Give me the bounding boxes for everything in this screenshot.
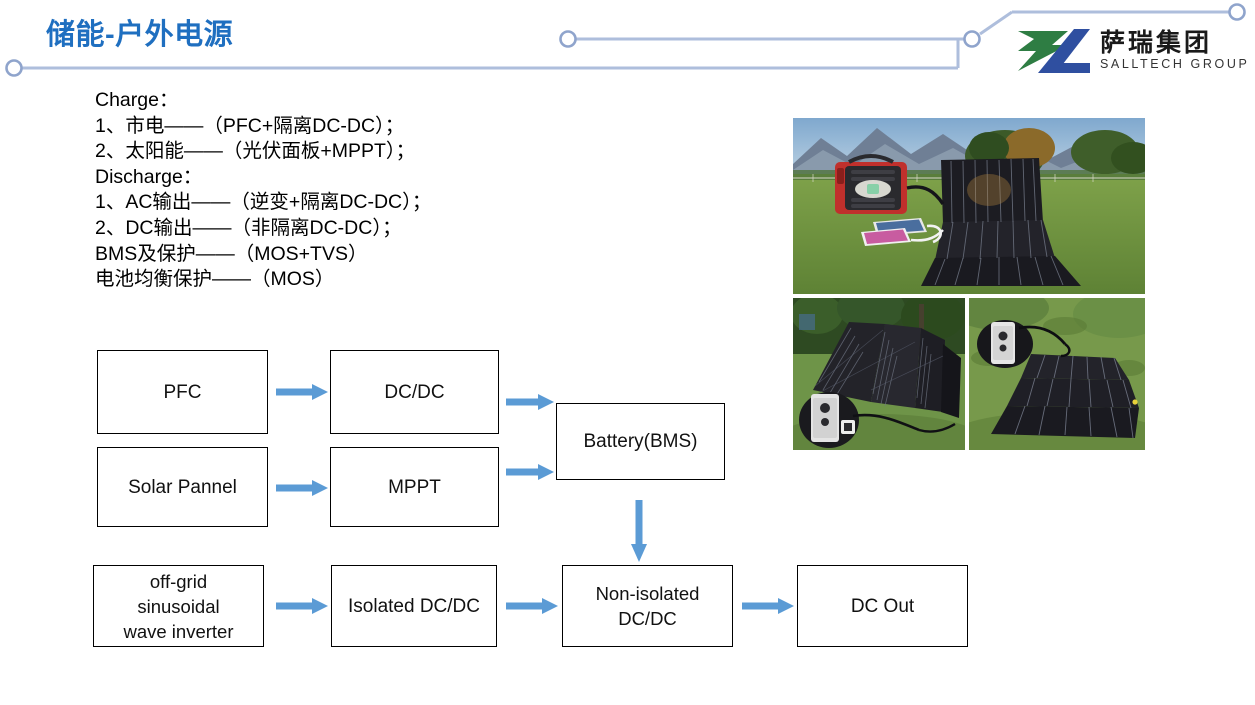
block-label: DC/DC bbox=[384, 381, 444, 404]
block-label: PFC bbox=[164, 381, 202, 404]
arrow-mppt-to-battery bbox=[506, 460, 554, 484]
arrow-pfc-to-dcdc bbox=[276, 380, 328, 404]
block-label: Battery(BMS) bbox=[583, 430, 697, 453]
arrow-dcdc-to-battery bbox=[506, 390, 554, 414]
block-mppt[interactable]: MPPT bbox=[330, 447, 499, 527]
block-battery-bms[interactable]: Battery(BMS) bbox=[556, 403, 725, 480]
block-label: off-gridsinusoidalwave inverter bbox=[123, 569, 233, 644]
block-label: Solar Pannel bbox=[128, 476, 237, 499]
arrow-isolated-to-non-isolated bbox=[506, 594, 558, 618]
block-label: MPPT bbox=[388, 476, 441, 499]
block-label: Non-isolatedDC/DC bbox=[596, 581, 700, 631]
arrow-non-isolated-to-dc-out bbox=[742, 594, 794, 618]
system-block-diagram: PFC DC/DC Battery(BMS) Solar Pannel MPPT… bbox=[0, 0, 1255, 705]
arrow-inverter-to-isolated-dcdc bbox=[276, 594, 328, 618]
block-label: Isolated DC/DC bbox=[348, 595, 480, 618]
block-solar-pannel[interactable]: Solar Pannel bbox=[97, 447, 268, 527]
block-pfc[interactable]: PFC bbox=[97, 350, 268, 434]
block-off-grid-inverter[interactable]: off-gridsinusoidalwave inverter bbox=[93, 565, 264, 647]
block-dc-out[interactable]: DC Out bbox=[797, 565, 968, 647]
slide-canvas: 储能-户外电源 萨瑞集团 SALLTECH GROUP Charge： 1、市电… bbox=[0, 0, 1255, 705]
block-dcdc[interactable]: DC/DC bbox=[330, 350, 499, 434]
arrow-solar-to-mppt bbox=[276, 476, 328, 500]
block-label: DC Out bbox=[851, 595, 914, 618]
block-non-isolated-dcdc[interactable]: Non-isolatedDC/DC bbox=[562, 565, 733, 647]
block-isolated-dcdc[interactable]: Isolated DC/DC bbox=[331, 565, 497, 647]
arrow-battery-to-non-isolated bbox=[626, 500, 652, 562]
